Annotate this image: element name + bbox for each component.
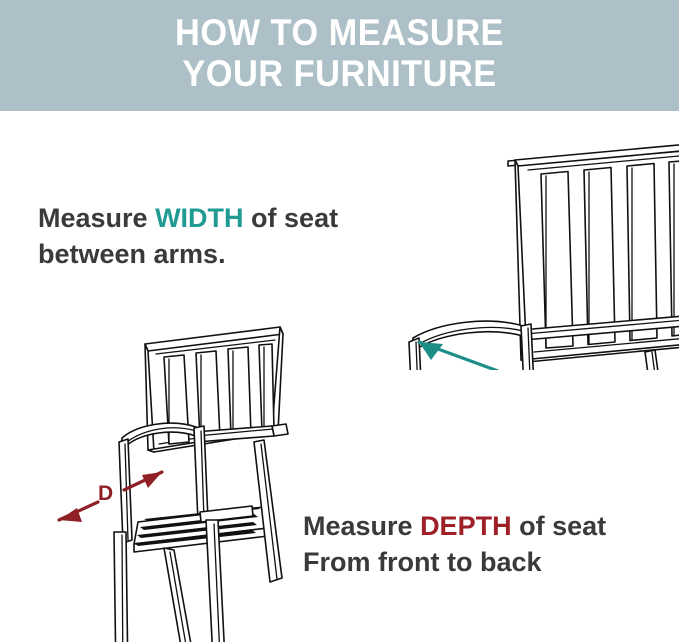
caption-width-suffix: of seat xyxy=(244,203,339,233)
depth-dimension-arrow: D xyxy=(59,472,162,522)
depth-dimension-label: D xyxy=(98,482,113,505)
caption-depth-keyword: DEPTH xyxy=(420,511,512,541)
infographic-page: HOW TO MEASURE YOUR FURNITURE xyxy=(0,0,679,642)
caption-width: Measure WIDTH of seat between arms. xyxy=(38,200,438,272)
page-title: HOW TO MEASURE YOUR FURNITURE xyxy=(24,12,655,94)
caption-depth-line1: Measure DEPTH of seat xyxy=(303,508,673,544)
caption-depth: Measure DEPTH of seat From front to back xyxy=(303,508,673,580)
chair-depth-illustration: D xyxy=(20,320,310,642)
caption-depth-prefix: Measure xyxy=(303,511,420,541)
caption-width-line2: between arms. xyxy=(38,236,438,272)
caption-depth-line2: From front to back xyxy=(303,544,673,580)
caption-width-keyword: WIDTH xyxy=(155,203,243,233)
caption-width-line1: Measure WIDTH of seat xyxy=(38,200,438,236)
caption-width-prefix: Measure xyxy=(38,203,155,233)
caption-depth-suffix: of seat xyxy=(512,511,607,541)
